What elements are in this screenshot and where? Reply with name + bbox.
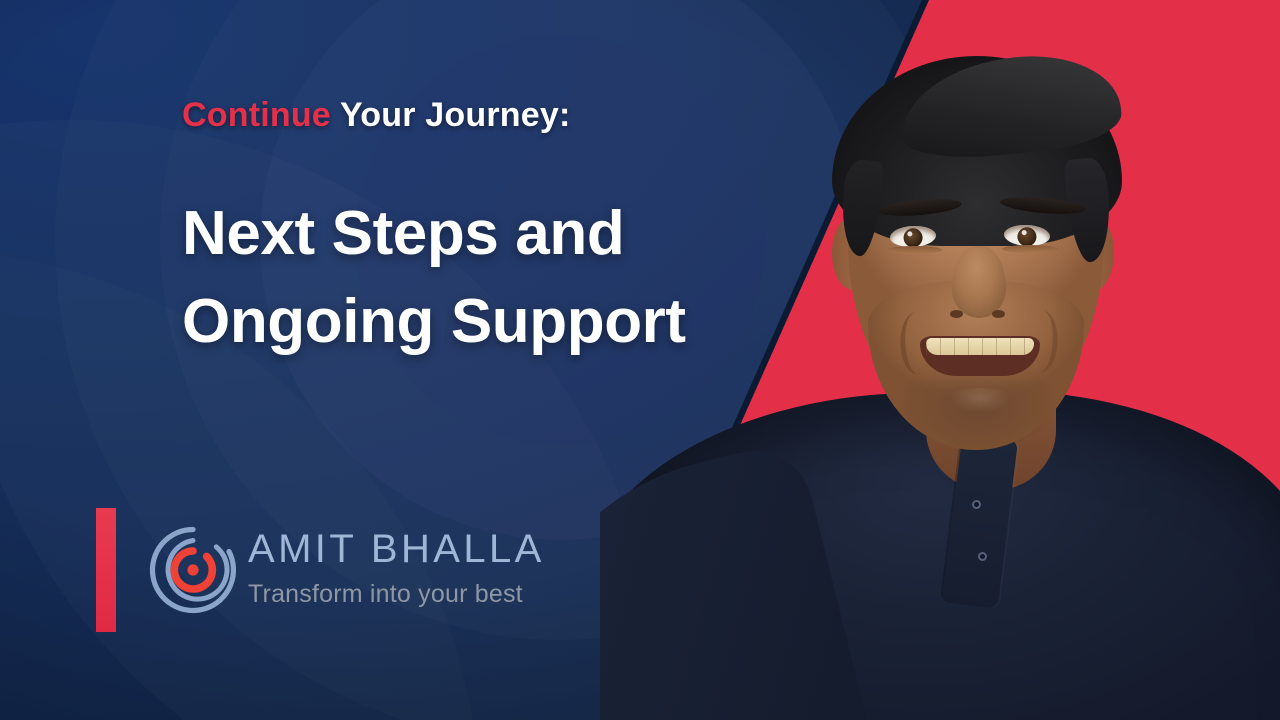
red-accent-bar (96, 508, 116, 632)
brand-name: AMIT BHALLA (248, 529, 545, 569)
portrait-iris-left (903, 227, 923, 247)
slide-eyebrow: Continue Your Journey: (182, 96, 571, 135)
portrait-shirt-button-bottom (978, 552, 987, 561)
portrait-teeth (926, 338, 1034, 355)
eyebrow-highlight-word: Continue (182, 96, 331, 134)
brand-logo-lockup: AMIT BHALLA Transform into your best (96, 505, 616, 637)
portrait-shirt-button-top (972, 500, 981, 509)
brand-text-block: AMIT BHALLA Transform into your best (248, 529, 545, 607)
slide-canvas: Continue Your Journey: Next Steps and On… (0, 0, 1280, 720)
portrait-lower-lid-right (1002, 245, 1058, 253)
portrait-chin-highlight (938, 388, 1022, 422)
eyebrow-rest: Your Journey: (331, 96, 571, 134)
headline-line-1: Next Steps and (182, 199, 624, 268)
portrait-lower-lid-left (886, 246, 942, 254)
portrait-mouth (920, 336, 1040, 376)
headline-line-2: Ongoing Support (182, 278, 802, 366)
portrait-iris-right (1017, 226, 1037, 246)
portrait-nostril-right (992, 310, 1005, 318)
slide-headline: Next Steps and Ongoing Support (182, 190, 802, 366)
portrait-nostril-left (950, 310, 963, 318)
brand-tagline: Transform into your best (248, 582, 545, 607)
target-rings-icon (148, 525, 238, 615)
portrait-nose (952, 246, 1006, 318)
